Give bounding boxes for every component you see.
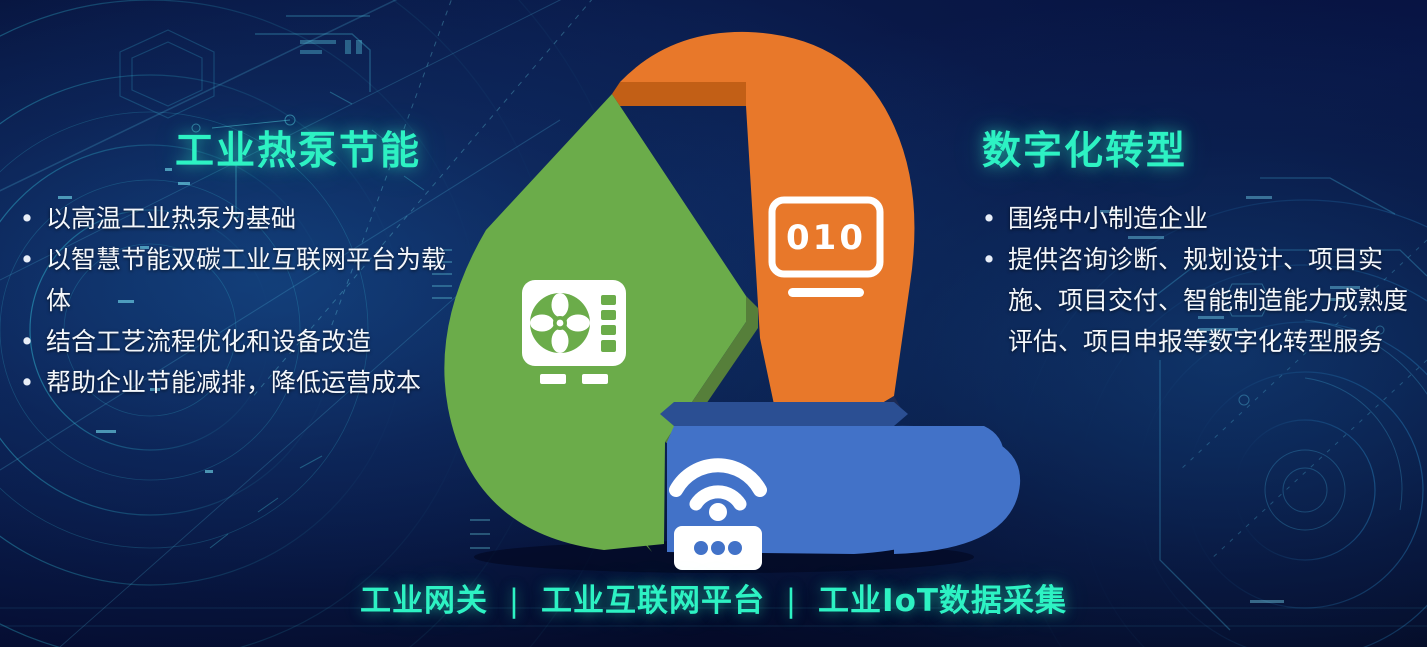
right-panel-bullet-list: • 围绕中小制造企业 • 提供咨询诊断、规划设计、项目实施、项目交付、智能制造能… [970, 198, 1422, 362]
bullet-marker-icon: • [8, 321, 46, 362]
triad-blue-edge [660, 402, 908, 426]
caption-separator: | [500, 583, 529, 619]
list-item: • 以高温工业热泵为基础 [8, 198, 456, 239]
list-item-label: 结合工艺流程优化和设备改造 [46, 321, 456, 362]
list-item: • 结合工艺流程优化和设备改造 [8, 321, 456, 362]
list-item-label: 提供咨询诊断、规划设计、项目实施、项目交付、智能制造能力成熟度评估、项目申报等数… [1008, 239, 1422, 362]
slide-canvas: 010 工业热泵节能 • 以高温工业热泵为基础 • 以智慧节能双碳工业互联网平台… [0, 0, 1427, 647]
footer-caption: 工业网关 | 工业互联网平台 | 工业IoT数据采集 [0, 575, 1427, 620]
list-item-label: 以智慧节能双碳工业互联网平台为载体 [46, 239, 456, 321]
list-item: • 提供咨询诊断、规划设计、项目实施、项目交付、智能制造能力成熟度评估、项目申报… [970, 239, 1422, 362]
list-item-label: 围绕中小制造企业 [1008, 198, 1422, 239]
caption-part-iot: 工业IoT数据采集 [818, 583, 1067, 619]
bullet-marker-icon: • [8, 198, 46, 239]
list-item-label: 以高温工业热泵为基础 [46, 198, 456, 239]
left-panel-heading: 工业热泵节能 [175, 120, 421, 176]
caption-part-gateway: 工业网关 [360, 583, 488, 619]
bullet-marker-icon: • [8, 239, 46, 280]
list-item-label: 帮助企业节能减排，降低运营成本 [46, 362, 456, 403]
binary-monitor-label: 010 [786, 218, 866, 258]
list-item: • 帮助企业节能减排，降低运营成本 [8, 362, 456, 403]
caption-separator: | [777, 583, 806, 619]
bullet-marker-icon: • [970, 198, 1008, 239]
triad-diagram: 010 [424, 22, 1024, 574]
list-item: • 以智慧节能双碳工业互联网平台为载体 [8, 239, 456, 321]
bullet-marker-icon: • [970, 239, 1008, 280]
triad-orange-edge [612, 82, 754, 106]
bullet-marker-icon: • [8, 362, 46, 403]
right-panel-heading: 数字化转型 [982, 120, 1187, 176]
caption-part-platform: 工业互联网平台 [541, 583, 765, 619]
left-panel-bullet-list: • 以高温工业热泵为基础 • 以智慧节能双碳工业互联网平台为载体 • 结合工艺流… [8, 198, 456, 403]
list-item: • 围绕中小制造企业 [970, 198, 1422, 239]
